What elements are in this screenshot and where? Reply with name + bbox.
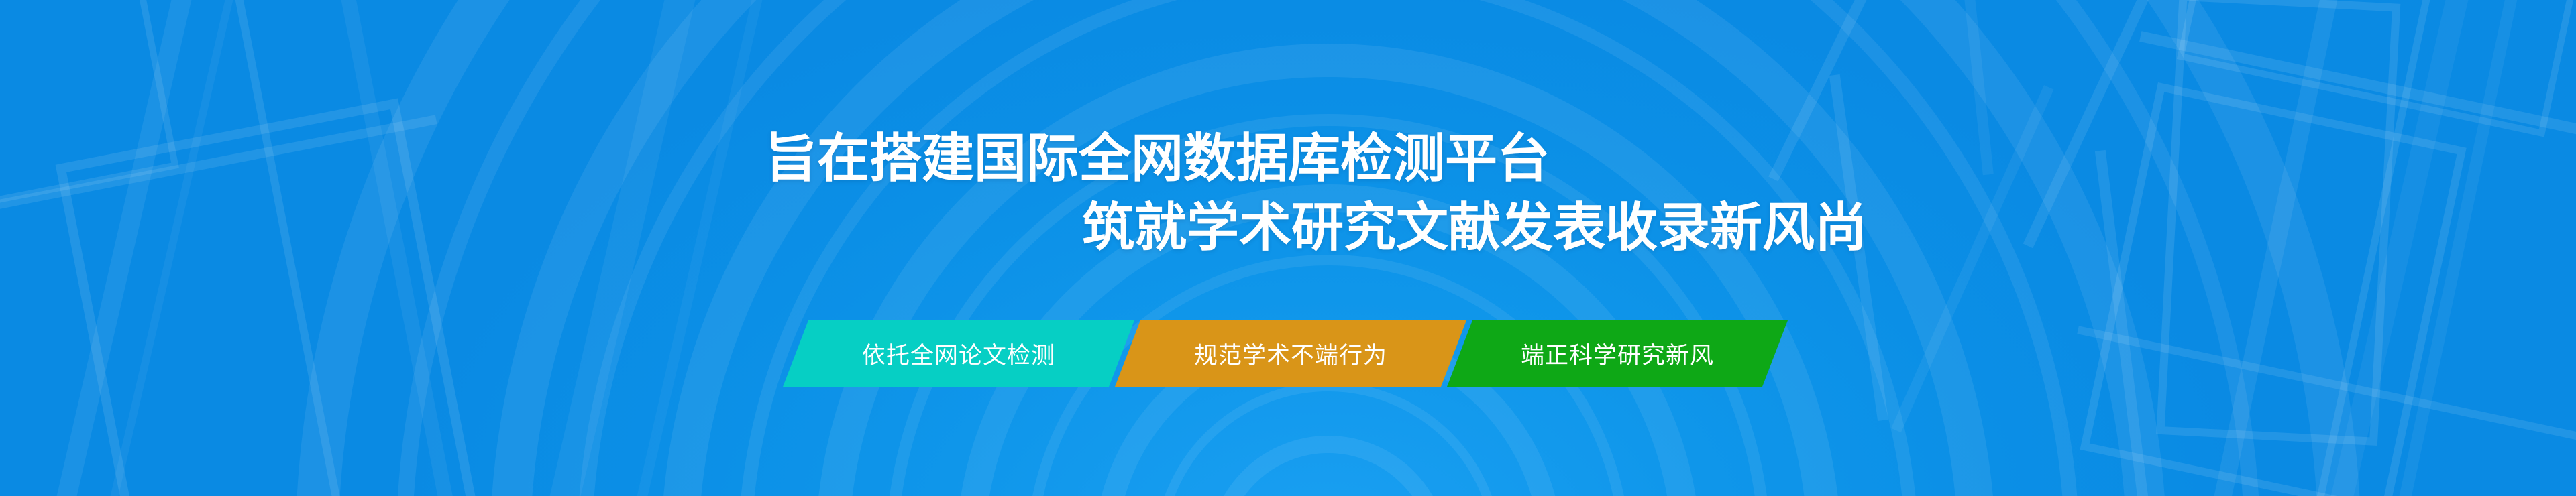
feature-tag-research-ethos[interactable]: 端正科学研究新风 bbox=[1447, 320, 1788, 387]
feature-tag-misconduct[interactable]: 规范学术不端行为 bbox=[1115, 320, 1467, 387]
feature-tag-strip: 依托全网论文检测 规范学术不端行为 端正科学研究新风 bbox=[0, 320, 2576, 387]
headline-line-1: 旨在搭建国际全网数据库检测平台 bbox=[765, 129, 1550, 187]
feature-tag-detection-label: 依托全网论文检测 bbox=[862, 336, 1055, 371]
feature-tag-misconduct-label: 规范学术不端行为 bbox=[1194, 336, 1387, 371]
promo-banner: 旨在搭建国际全网数据库检测平台 筑就学术研究文献发表收录新风尚 依托全网论文检测… bbox=[0, 0, 2576, 496]
feature-tag-research-ethos-label: 端正科学研究新风 bbox=[1521, 336, 1714, 371]
headline-line-2: 筑就学术研究文献发表收录新风尚 bbox=[1082, 198, 1867, 256]
feature-tag-detection[interactable]: 依托全网论文检测 bbox=[783, 320, 1135, 387]
